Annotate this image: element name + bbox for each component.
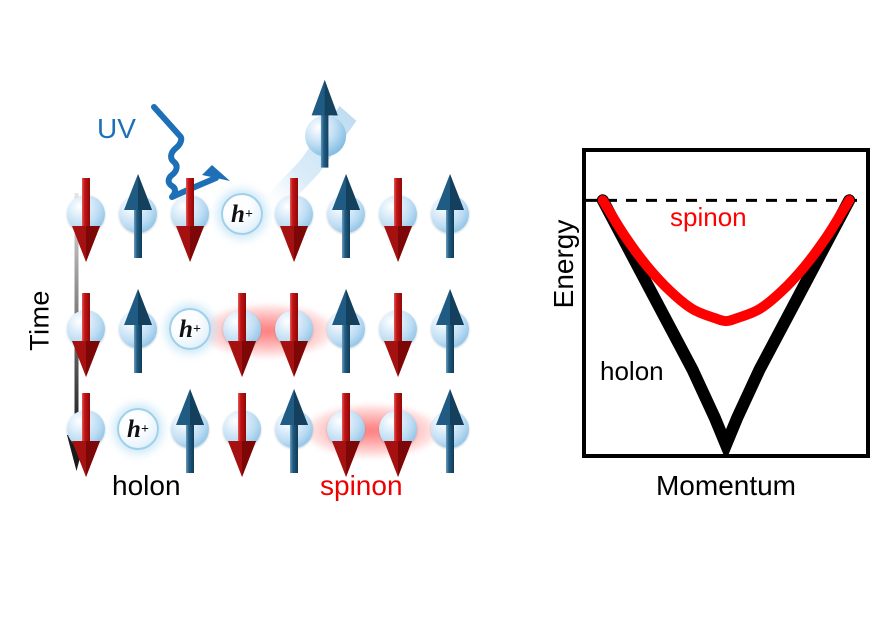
spin-up-arrow-icon bbox=[320, 285, 372, 381]
hole-site: h+ bbox=[112, 385, 164, 481]
spin-down-arrow-icon bbox=[372, 170, 424, 266]
spin-chain-row: h+ bbox=[60, 385, 476, 481]
spin-down-arrow-icon bbox=[372, 285, 424, 381]
spin-site bbox=[320, 385, 372, 481]
spin-up-arrow-icon bbox=[268, 385, 320, 481]
spin-up-arrow-icon bbox=[424, 385, 476, 481]
band-dispersion-panel: Energy spinon holon Momentum bbox=[540, 120, 880, 520]
spin-up-arrow-icon bbox=[164, 385, 216, 481]
hole-charge-label: h+ bbox=[216, 195, 268, 235]
hole-charge-sign: + bbox=[245, 207, 253, 223]
holon-band-label: holon bbox=[600, 356, 664, 387]
spin-site bbox=[372, 385, 424, 481]
hole-symbol: h bbox=[127, 416, 141, 444]
spin-down-arrow-icon bbox=[268, 170, 320, 266]
spin-site bbox=[268, 285, 320, 381]
spin-site bbox=[268, 170, 320, 266]
spinon-band-label: spinon bbox=[670, 202, 747, 233]
hole-charge-label: h+ bbox=[164, 310, 216, 350]
spin-site bbox=[372, 170, 424, 266]
time-axis-label: Time bbox=[25, 273, 56, 369]
spin-site bbox=[216, 285, 268, 381]
hole-charge-sign: + bbox=[141, 422, 149, 438]
spin-down-arrow-icon bbox=[320, 385, 372, 481]
spin-site bbox=[424, 170, 476, 266]
spin-up-arrow-icon bbox=[112, 170, 164, 266]
spin-site bbox=[424, 385, 476, 481]
hole-site: h+ bbox=[164, 285, 216, 381]
spin-site bbox=[320, 170, 372, 266]
spin-site bbox=[60, 385, 112, 481]
spin-site bbox=[60, 285, 112, 381]
spin-down-arrow-icon bbox=[60, 285, 112, 381]
figure-canvas: Time UV bbox=[0, 0, 880, 634]
spin-down-arrow-icon bbox=[372, 385, 424, 481]
spin-down-arrow-icon bbox=[164, 170, 216, 266]
hole-symbol: h bbox=[231, 201, 245, 229]
spin-site bbox=[216, 385, 268, 481]
spin-site bbox=[424, 285, 476, 381]
spin-site bbox=[164, 170, 216, 266]
spin-up-arrow-icon bbox=[112, 285, 164, 381]
hole-charge-sign: + bbox=[193, 322, 201, 338]
spin-down-arrow-icon bbox=[60, 385, 112, 481]
hole-site: h+ bbox=[216, 170, 268, 266]
spin-chain-row: h+ bbox=[60, 285, 476, 381]
dispersion-curves bbox=[586, 152, 866, 454]
spin-down-arrow-icon bbox=[216, 285, 268, 381]
spin-site bbox=[112, 170, 164, 266]
spin-down-arrow-icon bbox=[60, 170, 112, 266]
plot-frame: spinon holon bbox=[582, 148, 870, 458]
momentum-axis-label: Momentum bbox=[582, 470, 870, 502]
spinon-caption: spinon bbox=[320, 470, 403, 502]
spin-site bbox=[112, 285, 164, 381]
spin-site bbox=[268, 385, 320, 481]
spin-site bbox=[372, 285, 424, 381]
spin-up-arrow-icon bbox=[424, 170, 476, 266]
spin-down-arrow-icon bbox=[216, 385, 268, 481]
holon-caption: holon bbox=[112, 470, 181, 502]
spin-down-arrow-icon bbox=[268, 285, 320, 381]
hole-charge-label: h+ bbox=[112, 410, 164, 450]
spin-site bbox=[320, 285, 372, 381]
spin-chain-row: h+ bbox=[60, 170, 476, 266]
spin-up-arrow-icon bbox=[424, 285, 476, 381]
chain-diagram-panel: Time UV bbox=[0, 0, 520, 634]
hole-symbol: h bbox=[179, 316, 193, 344]
spin-site bbox=[164, 385, 216, 481]
energy-axis-label: Energy bbox=[548, 194, 580, 334]
spin-site bbox=[60, 170, 112, 266]
uv-label: UV bbox=[97, 113, 136, 145]
spin-up-arrow-icon bbox=[320, 170, 372, 266]
